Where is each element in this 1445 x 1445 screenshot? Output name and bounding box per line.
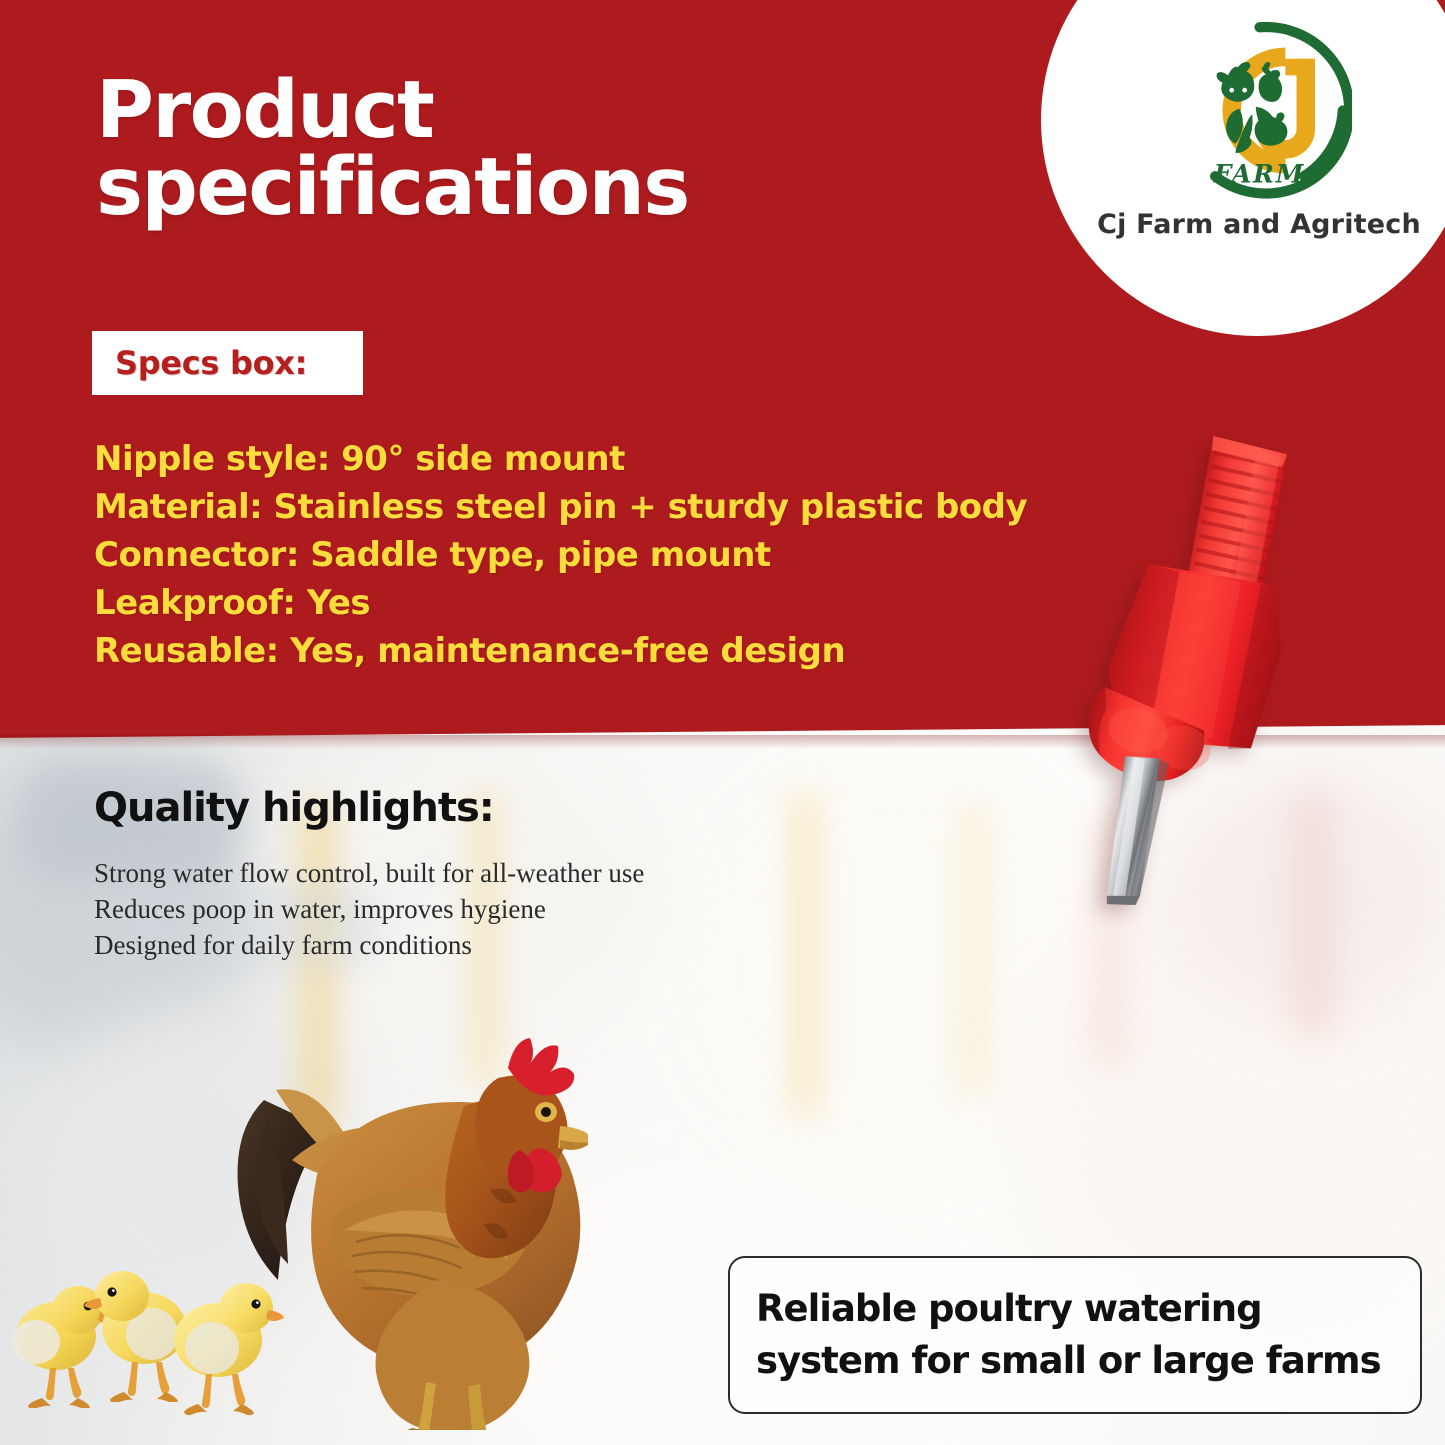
specs-box-label-text: Specs box: xyxy=(115,344,307,382)
spec-item: Nipple style: 90° side mount xyxy=(94,435,1104,483)
specs-list: Nipple style: 90° side mount Material: S… xyxy=(94,435,1104,675)
tagline-line1: Reliable poultry watering xyxy=(756,1283,1420,1335)
svg-text:FARM: FARM xyxy=(1212,160,1304,189)
quality-highlights-list: Strong water flow control, built for all… xyxy=(94,855,794,963)
page-title-line2: specifications xyxy=(96,149,996,226)
quality-item: Reduces poop in water, improves hygiene xyxy=(94,891,794,927)
farm-logo-icon: FARM xyxy=(1167,18,1352,203)
spec-item: Material: Stainless steel pin + sturdy p… xyxy=(94,483,1104,531)
spec-item: Connector: Saddle type, pipe mount xyxy=(94,531,1104,579)
brand-logo: FARM Cj Farm and Agritech xyxy=(1150,18,1368,328)
page-title: Product specifications xyxy=(96,72,996,227)
brand-name: Cj Farm and Agritech xyxy=(1097,209,1421,240)
quality-item: Strong water flow control, built for all… xyxy=(94,855,794,891)
tagline-callout-box: Reliable poultry watering system for sma… xyxy=(728,1256,1422,1414)
quality-highlights-title: Quality highlights: xyxy=(94,785,494,831)
product-spec-poster: FARM Cj Farm and Agritech Product specif… xyxy=(0,0,1445,1445)
spec-item: Reusable: Yes, maintenance-free design xyxy=(94,627,1104,675)
spec-item: Leakproof: Yes xyxy=(94,579,1104,627)
tagline-line2: system for small or large farms xyxy=(756,1335,1420,1387)
specs-box-label: Specs box: xyxy=(92,331,363,395)
chick-image xyxy=(160,1252,286,1417)
